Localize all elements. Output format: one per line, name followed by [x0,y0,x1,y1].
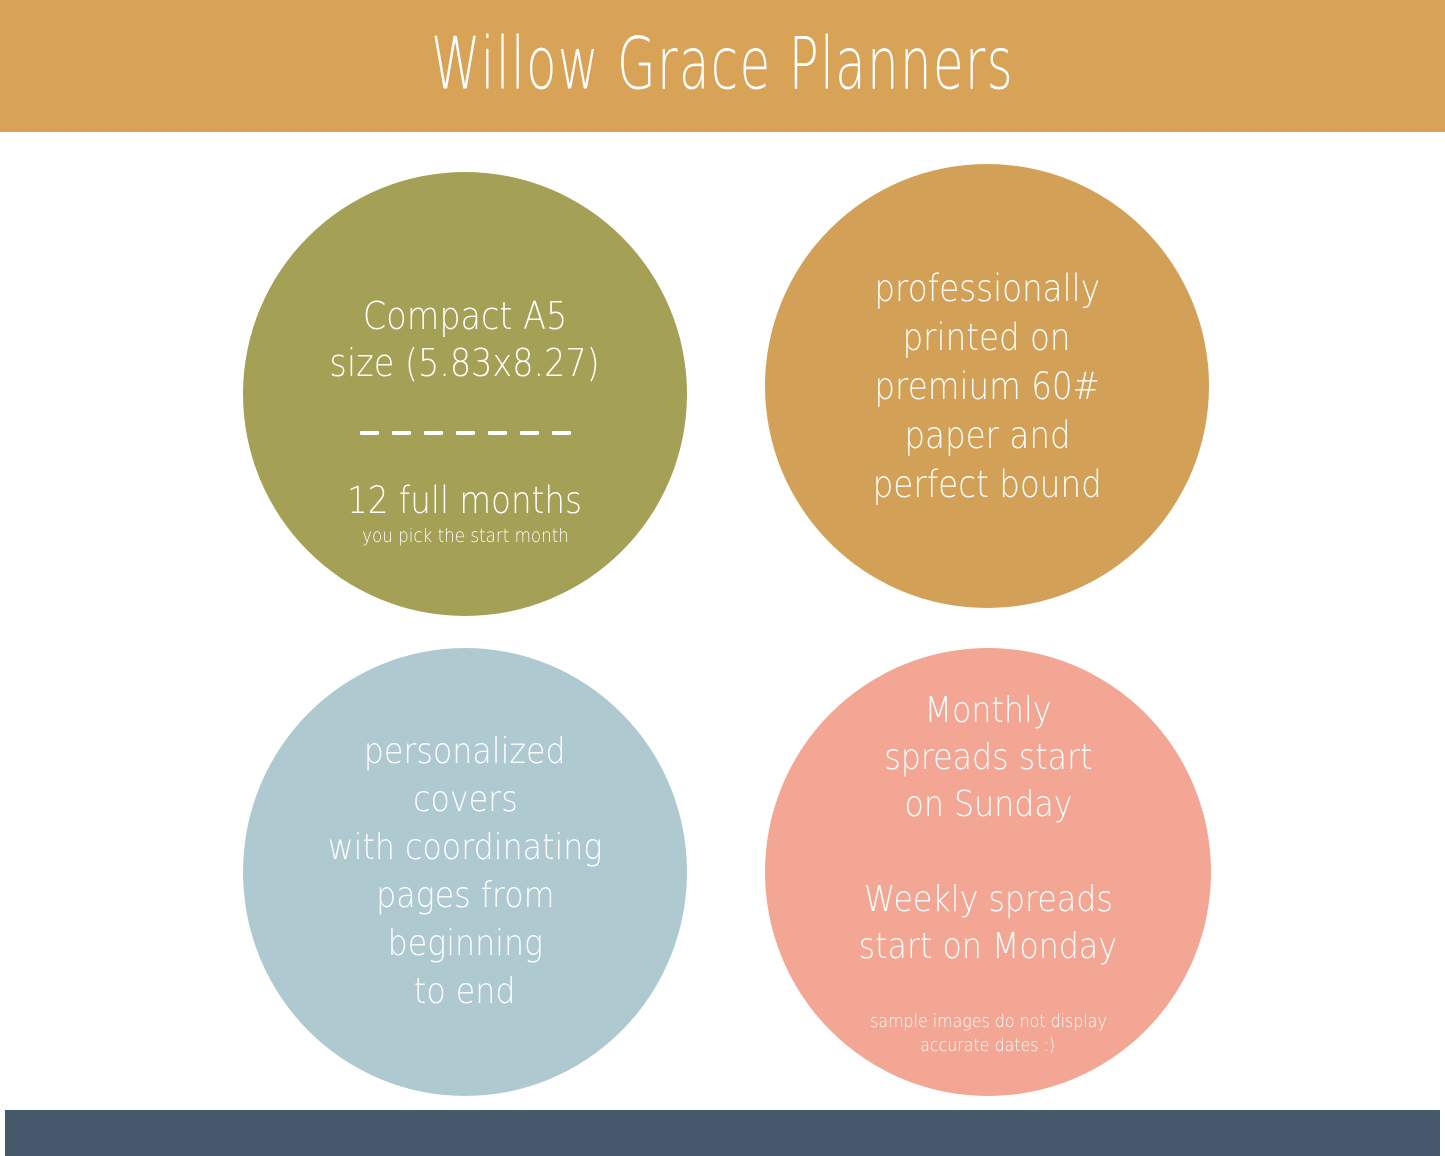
covers-circle: personalized covers with coordinating pa… [243,648,687,1096]
covers-circle-line-1: personalized [364,728,566,776]
footer-band [5,1110,1440,1156]
printing-circle-line-1: professionally [874,264,1100,313]
size-circle-headline: 12 full months [348,479,583,522]
covers-circle-line-4: pages from [376,872,554,920]
printing-circle-line-4: paper and [904,411,1070,460]
printing-circle-line-2: printed on [903,313,1071,362]
dashed-divider-icon [360,431,571,435]
spreads-circle-monthly-line-3: on Sunday [904,781,1072,828]
printing-circle-line-3: premium 60# [874,362,1100,411]
covers-circle-line-5: beginning [387,920,542,968]
page-title: Willow Grace Planners [431,28,1014,105]
spreads-circle-monthly-line-1: Monthly [925,687,1052,734]
size-circle-line-1: Compact A5 [363,293,567,340]
spreads-circle: Monthly spreads start on Sunday Weekly s… [765,648,1211,1096]
circles-container: Compact A5 size (5.83x8.27) 12 full mont… [0,132,1445,1108]
infographic-page: Willow Grace Planners Compact A5 size (5… [0,0,1445,1156]
covers-circle-line-3: with coordinating [328,824,603,872]
covers-circle-line-2: covers [413,776,518,824]
size-circle: Compact A5 size (5.83x8.27) 12 full mont… [243,172,687,616]
spreads-circle-weekly-line-2: start on Monday [859,923,1117,970]
size-circle-line-2: size (5.83x8.27) [330,340,600,387]
printing-circle: professionally printed on premium 60# pa… [765,164,1209,608]
spreads-circle-note-line-2: accurate dates :) [921,1034,1056,1058]
covers-circle-line-6: to end [414,968,516,1016]
header-band: Willow Grace Planners [0,0,1445,132]
printing-circle-line-5: perfect bound [872,460,1101,509]
size-circle-subtext: you pick the start month [362,524,569,548]
spreads-circle-weekly-line-1: Weekly spreads [864,876,1113,923]
spreads-circle-monthly-line-2: spreads start [884,734,1092,781]
spreads-circle-note-line-1: sample images do not display [870,1010,1107,1034]
